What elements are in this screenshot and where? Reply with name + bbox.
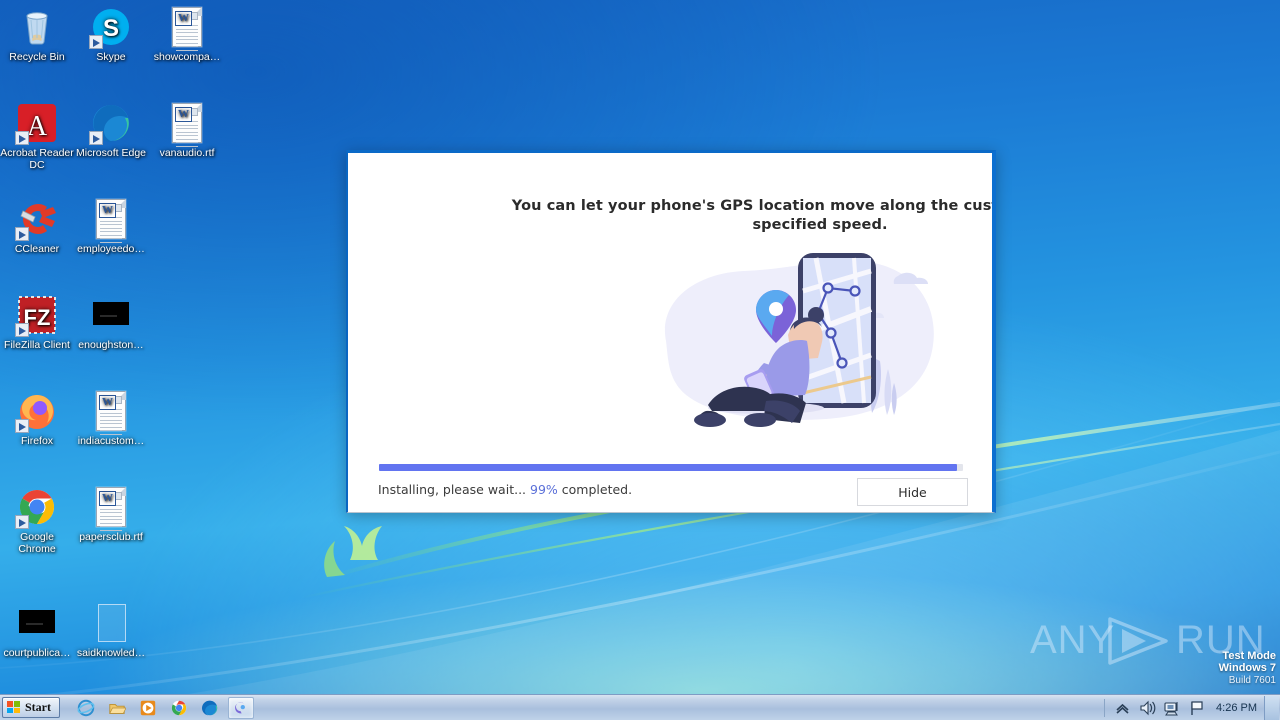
- acrobat-icon: A: [16, 102, 58, 144]
- desktop-icon-courtpublica[interactable]: courtpublica…: [0, 602, 74, 660]
- taskbar-button-windows-explorer[interactable]: [104, 697, 130, 719]
- desktop-icon-label: courtpublica…: [0, 648, 74, 660]
- progress-bar-fill: [379, 464, 957, 471]
- start-button-label: Start: [25, 700, 51, 715]
- shortcut-overlay-icon: [89, 35, 103, 49]
- desktop-icon-employeedo[interactable]: Wemployeedo…: [74, 198, 148, 256]
- microsoft-edge-icon: [201, 699, 219, 717]
- desktop-icon-ccleaner[interactable]: CCleaner: [0, 198, 74, 256]
- system-tray: 4:26 PM: [1099, 695, 1280, 720]
- desktop-icon-enoughston[interactable]: enoughston…: [74, 294, 148, 352]
- desktop-icon-papersclub-rtf[interactable]: Wpapersclub.rtf: [74, 486, 148, 544]
- volume-speaker-icon[interactable]: [1138, 699, 1157, 717]
- skype-icon: S: [90, 6, 132, 48]
- taskbar-button-google-chrome[interactable]: [166, 697, 192, 719]
- desktop-icon-label: Firefox: [0, 436, 74, 448]
- status-suffix: completed.: [558, 482, 632, 497]
- desktop-icon-label: employeedo…: [74, 244, 148, 256]
- shortcut-overlay-icon: [89, 131, 103, 145]
- action-center-flag-icon[interactable]: [1188, 699, 1207, 717]
- tray-divider: [1104, 699, 1105, 717]
- edge-icon: [90, 102, 132, 144]
- desktop-icon-label: Skype: [74, 52, 148, 64]
- anyrun-watermark: ANY RUN: [1030, 615, 1240, 667]
- taskbar-clock[interactable]: 4:26 PM: [1216, 702, 1257, 714]
- taskbar-button-installer-app[interactable]: [228, 697, 254, 719]
- install-status-text: Installing, please wait... 99% completed…: [378, 482, 632, 497]
- test-mode-line3: Build 7601: [1219, 675, 1276, 688]
- desktop-icon-google-chrome[interactable]: Google Chrome: [0, 486, 74, 555]
- test-mode-watermark: Test Mode Windows 7 Build 7601: [1219, 650, 1276, 688]
- shortcut-overlay-icon: [15, 419, 29, 433]
- shortcut-overlay-icon: [15, 131, 29, 145]
- desktop-icon-label: Recycle Bin: [0, 52, 74, 64]
- network-icon[interactable]: [1163, 699, 1182, 717]
- desktop-icon-label: vanaudio.rtf: [150, 148, 224, 160]
- docfile-icon: W: [166, 102, 208, 144]
- desktop-icon-label: enoughston…: [74, 340, 148, 352]
- carousel-slide-area: sition on the n at a specified You can l…: [348, 153, 992, 453]
- shortcut-overlay-icon: [15, 323, 29, 337]
- docfile-icon: W: [166, 6, 208, 48]
- installer-app-icon: [232, 699, 250, 717]
- hide-button[interactable]: Hide: [857, 478, 968, 506]
- docfile-icon: W: [90, 390, 132, 432]
- desktop-icon-skype[interactable]: SSkype: [74, 6, 148, 64]
- anyrun-play-triangle-logo: [1102, 615, 1172, 667]
- desktop-icon-label: Acrobat Reader DC: [0, 148, 74, 171]
- desktop-icon-label: Google Chrome: [0, 532, 74, 555]
- ccleaner-icon: [16, 198, 58, 240]
- status-prefix: Installing, please wait...: [378, 482, 530, 497]
- desktop-icon-filezilla-client[interactable]: FZFileZilla Client: [0, 294, 74, 352]
- carousel-caption-previous: sition on the n at a specified: [348, 153, 378, 235]
- taskbar-button-media-player[interactable]: [135, 697, 161, 719]
- desktop-icon-label: showcompa…: [150, 52, 224, 64]
- blankpage-icon: [90, 602, 132, 644]
- media-player-icon: [139, 699, 157, 717]
- desktop-icon-acrobat-reader-dc[interactable]: AAcrobat Reader DC: [0, 102, 74, 171]
- shortcut-overlay-icon: [15, 227, 29, 241]
- carousel-slide-previous: sition on the n at a specified: [348, 153, 378, 453]
- shortcut-overlay-icon: [15, 515, 29, 529]
- installer-window[interactable]: sition on the n at a specified You can l…: [346, 150, 996, 513]
- desktop-icon-showcompa[interactable]: Wshowcompa…: [150, 6, 224, 64]
- windows-explorer-icon: [108, 699, 126, 717]
- desktop-icon-indiacustom[interactable]: Windiacustom…: [74, 390, 148, 448]
- windows-logo-icon: [7, 701, 21, 714]
- test-mode-line2: Windows 7: [1219, 662, 1276, 675]
- desktop-icon-label: Microsoft Edge: [74, 148, 148, 160]
- progress-bar-track: [379, 464, 963, 471]
- desktop-icon-microsoft-edge[interactable]: Microsoft Edge: [74, 102, 148, 160]
- blackbox-icon: [16, 602, 58, 644]
- desktop-icon-label: CCleaner: [0, 244, 74, 256]
- show-desktop-button[interactable]: [1264, 696, 1279, 720]
- taskbar-button-microsoft-edge[interactable]: [197, 697, 223, 719]
- status-percent: 99%: [530, 482, 558, 497]
- blackbox-icon: [90, 294, 132, 336]
- taskbar: Start 4:26 PM: [0, 694, 1280, 720]
- internet-explorer-icon: [77, 699, 95, 717]
- desktop-icon-recycle-bin[interactable]: Recycle Bin: [0, 6, 74, 64]
- recycle-bin-icon: [16, 6, 58, 48]
- svg-text:S: S: [103, 15, 119, 42]
- filezilla-icon: FZ: [16, 294, 58, 336]
- desktop-icon-saidknowled[interactable]: saidknowled…: [74, 602, 148, 660]
- desktop-icon-label: papersclub.rtf: [74, 532, 148, 544]
- docfile-icon: W: [90, 486, 132, 528]
- test-mode-line1: Test Mode: [1219, 650, 1276, 663]
- firefox-icon: [16, 390, 58, 432]
- desktop-icon-label: FileZilla Client: [0, 340, 74, 352]
- quick-launch-bar: [68, 697, 254, 719]
- desktop-icon-vanaudio-rtf[interactable]: Wvanaudio.rtf: [150, 102, 224, 160]
- taskbar-button-internet-explorer[interactable]: [73, 697, 99, 719]
- desktop-icon-label: saidknowled…: [74, 648, 148, 660]
- docfile-icon: W: [90, 198, 132, 240]
- svg-text:A: A: [27, 111, 48, 142]
- desktop-icon-label: indiacustom…: [74, 436, 148, 448]
- google-chrome-icon: [170, 699, 188, 717]
- show-hidden-icons-chevron-icon[interactable]: [1113, 699, 1132, 717]
- chrome-icon: [16, 486, 58, 528]
- carousel-caption-current: You can let your phone's GPS location mo…: [510, 153, 992, 235]
- desktop-icon-firefox[interactable]: Firefox: [0, 390, 74, 448]
- person-with-phone-gps-map-illustration: [648, 243, 948, 438]
- start-button[interactable]: Start: [2, 697, 60, 718]
